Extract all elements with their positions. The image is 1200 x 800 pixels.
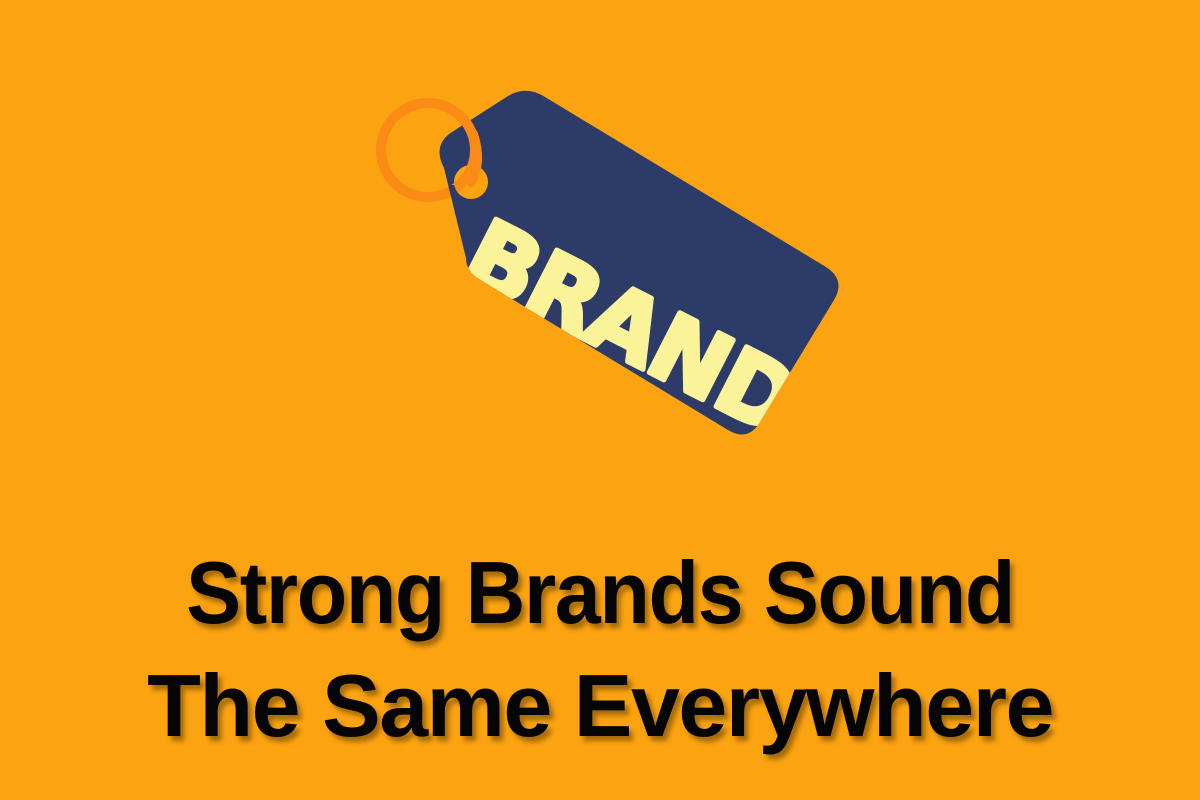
page-title: Strong Brands Sound The Same Everywhere: [0, 537, 1200, 762]
headline-line-2: The Same Everywhere: [0, 650, 1200, 763]
poster-canvas: BRAND Strong Brands Sound The Same Every…: [0, 0, 1200, 800]
price-tag-illustration: BRAND: [340, 70, 880, 500]
headline-line-1: Strong Brands Sound: [36, 537, 1164, 650]
